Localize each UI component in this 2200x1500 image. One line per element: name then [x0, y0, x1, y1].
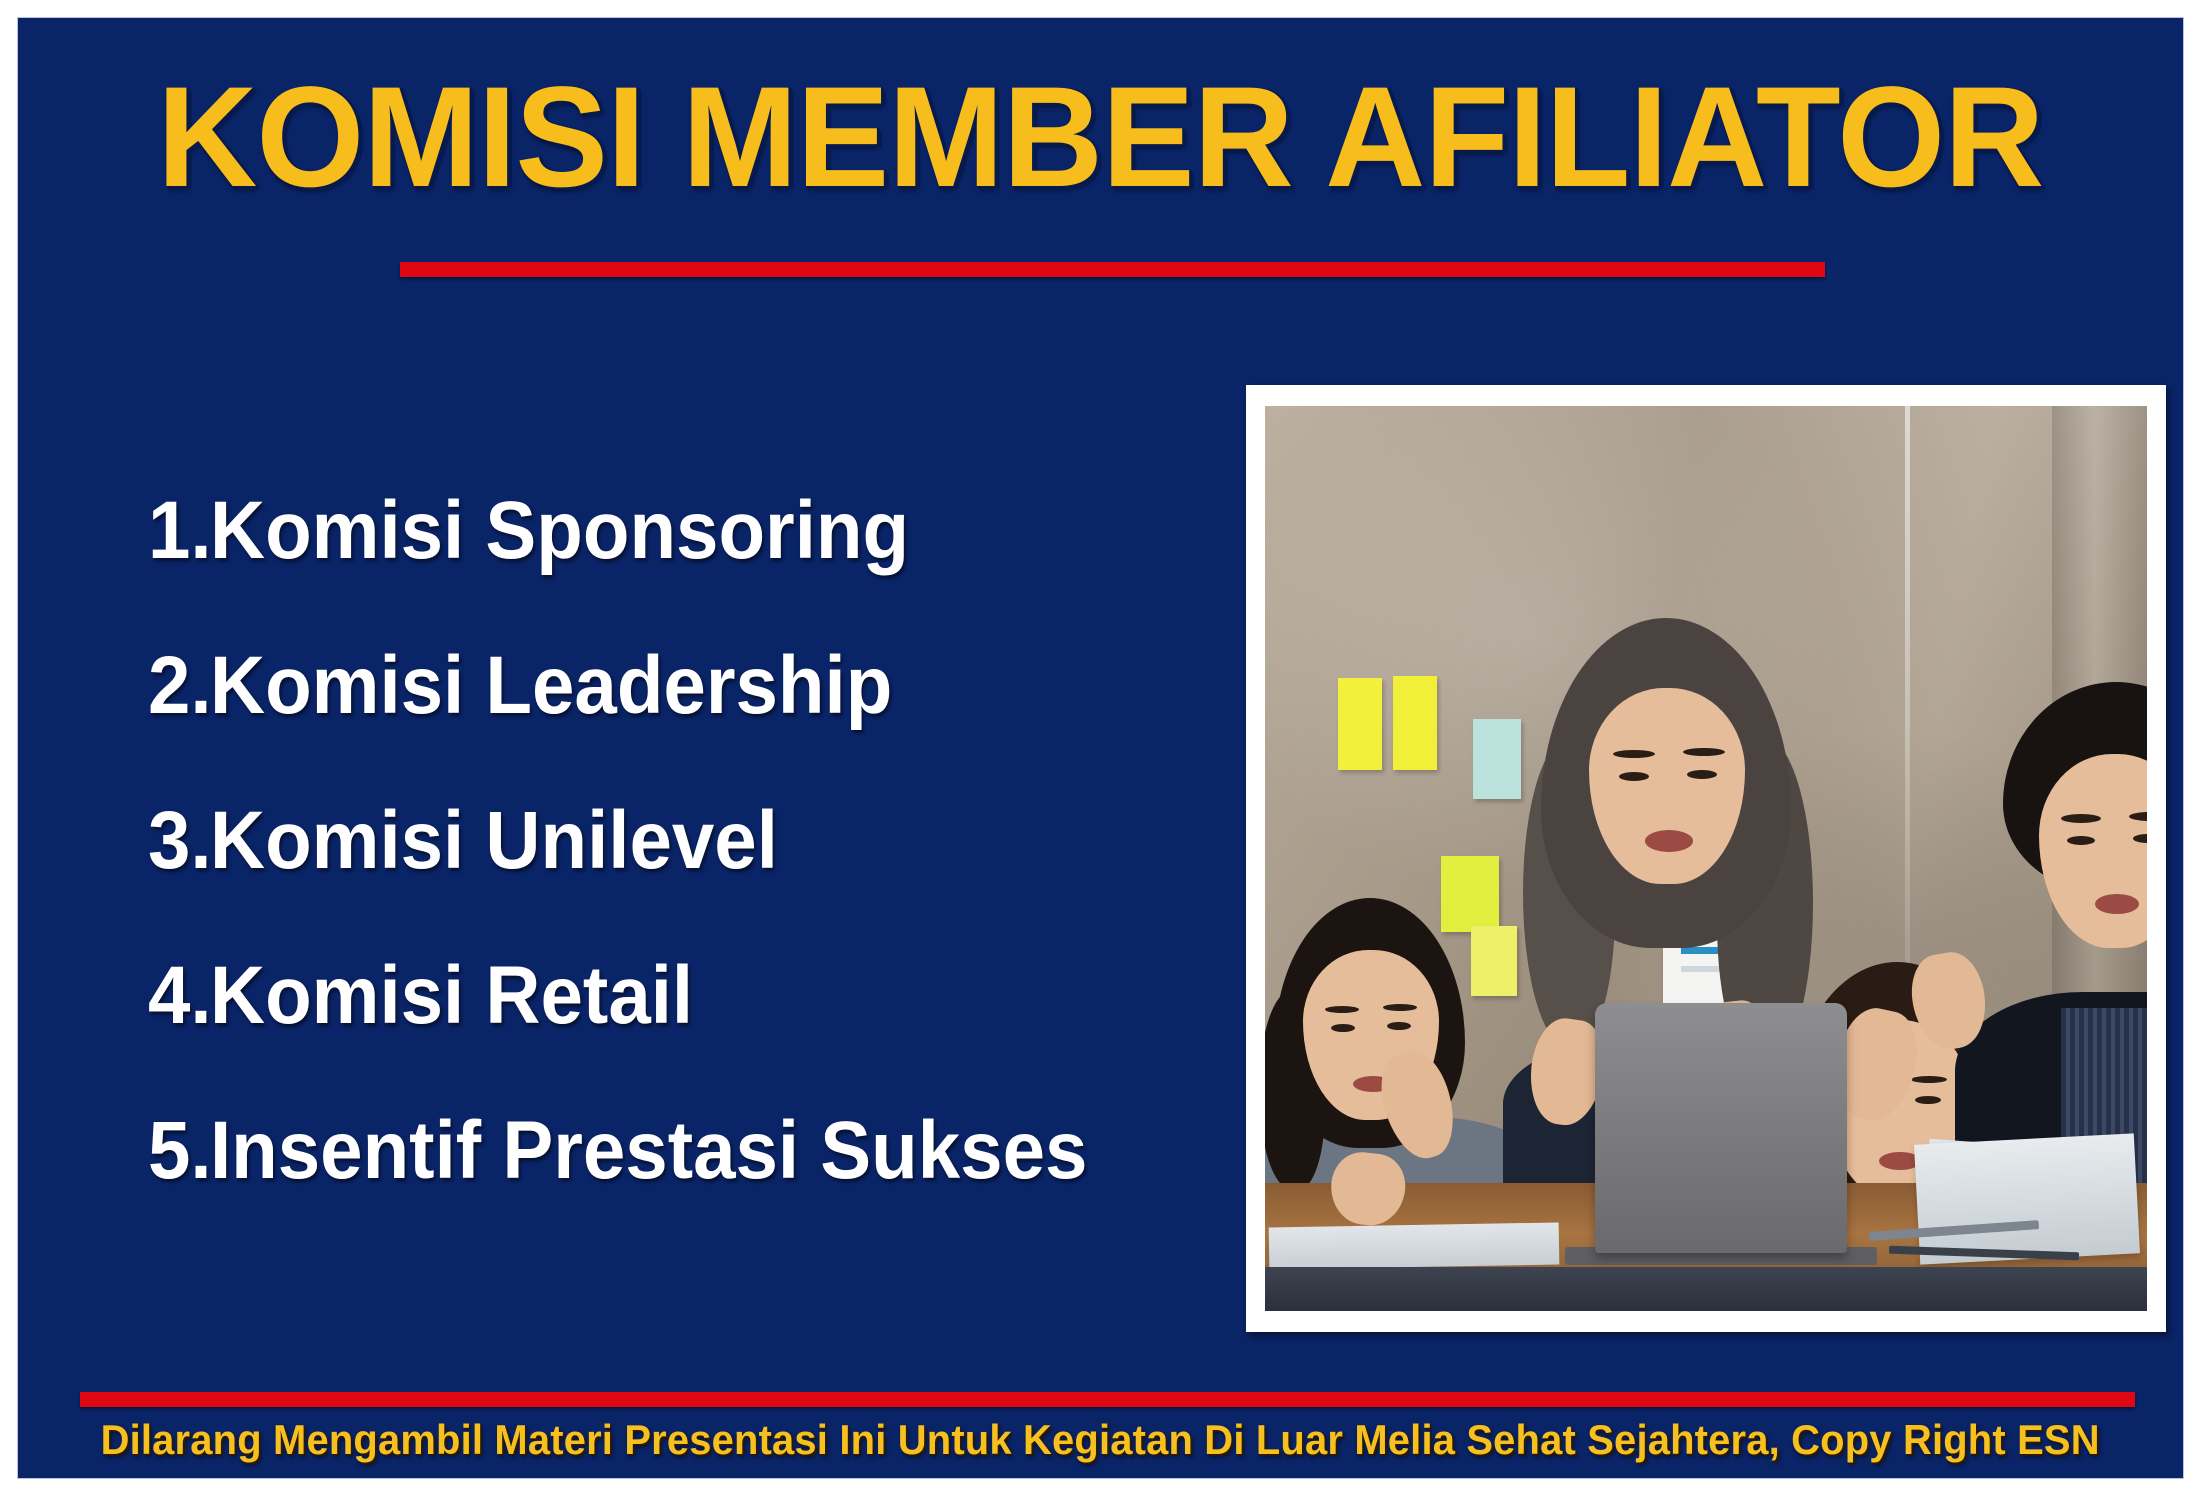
tablet: [1269, 1222, 1560, 1269]
list-item-label: Komisi Leadership: [210, 643, 892, 729]
page-title: KOMISI MEMBER AFILIATOR: [157, 66, 2043, 209]
footer-copyright-note: Dilarang Mengambil Materi Presentasi Ini…: [18, 1416, 2183, 1464]
list-item-label: Komisi Sponsoring: [210, 488, 909, 574]
list-item: 4. Komisi Retail: [148, 953, 1208, 1108]
slide-canvas: KOMISI MEMBER AFILIATOR 1. Komisi Sponso…: [18, 18, 2183, 1478]
laptop-lid: [1595, 1003, 1847, 1253]
desk-front-edge: [1265, 1267, 2147, 1311]
list-item-label: Insentif Prestasi Sukses: [210, 1108, 1087, 1194]
list-item-number: 5.: [148, 1108, 206, 1194]
sticky-note-icon: [1338, 678, 1382, 770]
list-item: 1. Komisi Sponsoring: [148, 488, 1208, 643]
list-item-number: 4.: [148, 953, 206, 1039]
slide-root: KOMISI MEMBER AFILIATOR 1. Komisi Sponso…: [0, 0, 2200, 1500]
list-item-number: 1.: [148, 488, 206, 574]
title-underline-rule: [400, 262, 1825, 277]
list-item: 2. Komisi Leadership: [148, 643, 1208, 798]
photo-frame: [1246, 385, 2166, 1332]
face: [2039, 754, 2147, 948]
list-item-label: Komisi Unilevel: [210, 798, 778, 884]
team-meeting-photo: [1265, 406, 2147, 1311]
footer-copyright-text: Dilarang Mengambil Materi Presentasi Ini…: [101, 1416, 2100, 1464]
commission-list: 1. Komisi Sponsoring 2. Komisi Leadershi…: [148, 488, 1208, 1263]
list-item-label: Komisi Retail: [210, 953, 693, 1039]
sticky-note-icon: [1393, 676, 1437, 770]
list-item-number: 3.: [148, 798, 206, 884]
list-item: 5. Insentif Prestasi Sukses: [148, 1108, 1208, 1263]
wall-seam: [1905, 406, 1910, 1058]
title-block: KOMISI MEMBER AFILIATOR: [18, 66, 2183, 209]
list-item-number: 2.: [148, 643, 206, 729]
papers: [1914, 1133, 2140, 1264]
footer-rule: [80, 1392, 2135, 1407]
list-item: 3. Komisi Unilevel: [148, 798, 1208, 953]
